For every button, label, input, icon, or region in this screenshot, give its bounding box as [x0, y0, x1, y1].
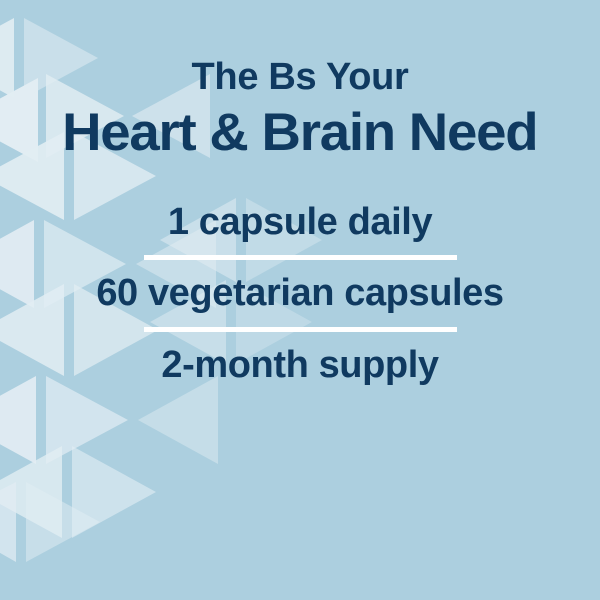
page-title: Heart & Brain Need — [62, 106, 537, 159]
divider-2 — [144, 327, 457, 332]
spec-item-count: 60 vegetarian capsules — [96, 274, 503, 314]
product-info-graphic: The Bs Your Heart & Brain Need 1 capsule… — [0, 0, 600, 600]
spec-item-supply: 2-month supply — [161, 346, 438, 386]
spec-item-dosage: 1 capsule daily — [168, 203, 432, 243]
copy-stack: The Bs Your Heart & Brain Need 1 capsule… — [0, 0, 600, 600]
spec-list: 1 capsule daily 60 vegetarian capsules 2… — [0, 203, 600, 387]
eyebrow-text: The Bs Your — [192, 58, 409, 98]
divider-1 — [144, 255, 457, 260]
